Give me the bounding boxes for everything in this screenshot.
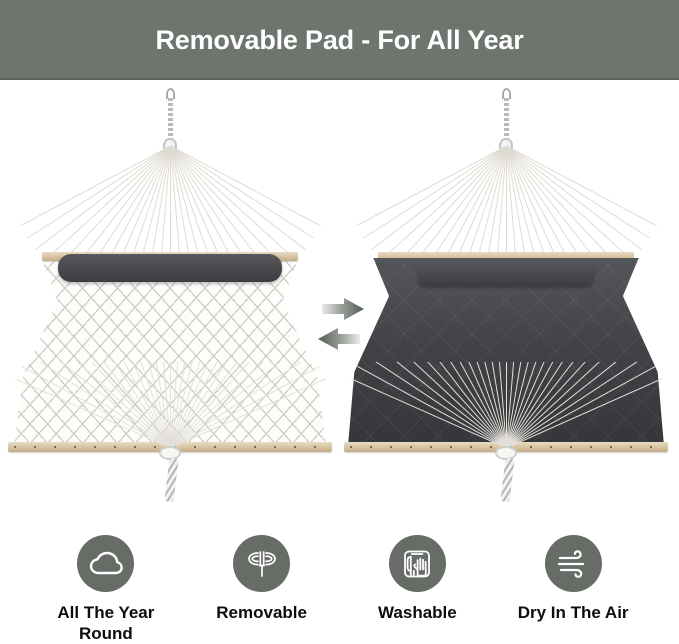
bottom-suspension-cords [0, 362, 340, 448]
right-hammock-image [336, 80, 676, 480]
hand-wash-icon [389, 535, 446, 592]
rope-tail [164, 458, 178, 503]
hanging-chain-icon [168, 98, 173, 140]
page-title: Removable Pad - For All Year [155, 27, 523, 54]
feature-label: Removable [216, 603, 307, 624]
head-pillow [418, 260, 594, 286]
zipper-icon [233, 535, 290, 592]
cloud-icon [77, 535, 134, 592]
feature-item-removable: Removable [187, 500, 337, 624]
feature-label: Dry In The Air [518, 603, 629, 624]
wind-icon [545, 535, 602, 592]
header-banner: Removable Pad - For All Year [0, 0, 679, 80]
arrow-right-icon [322, 298, 364, 320]
product-comparison-stage [0, 80, 679, 500]
feature-item-washable: Washable [342, 500, 492, 624]
rope-tail [500, 458, 514, 503]
feature-list: All The Year Round Removable [0, 500, 679, 638]
bottom-suspension-cords [336, 362, 676, 448]
feature-label: Washable [378, 603, 457, 624]
hanging-chain-icon [504, 98, 509, 140]
head-pillow [58, 254, 282, 282]
arrow-left-icon [318, 328, 360, 350]
top-suspension-cords [336, 146, 676, 254]
feature-item-all-the-year-round: All The Year Round [31, 500, 181, 644]
feature-item-dry-in-the-air: Dry In The Air [498, 500, 648, 624]
left-hammock-image [0, 80, 340, 480]
top-suspension-cords [0, 146, 340, 254]
swap-arrows-group [318, 298, 368, 356]
